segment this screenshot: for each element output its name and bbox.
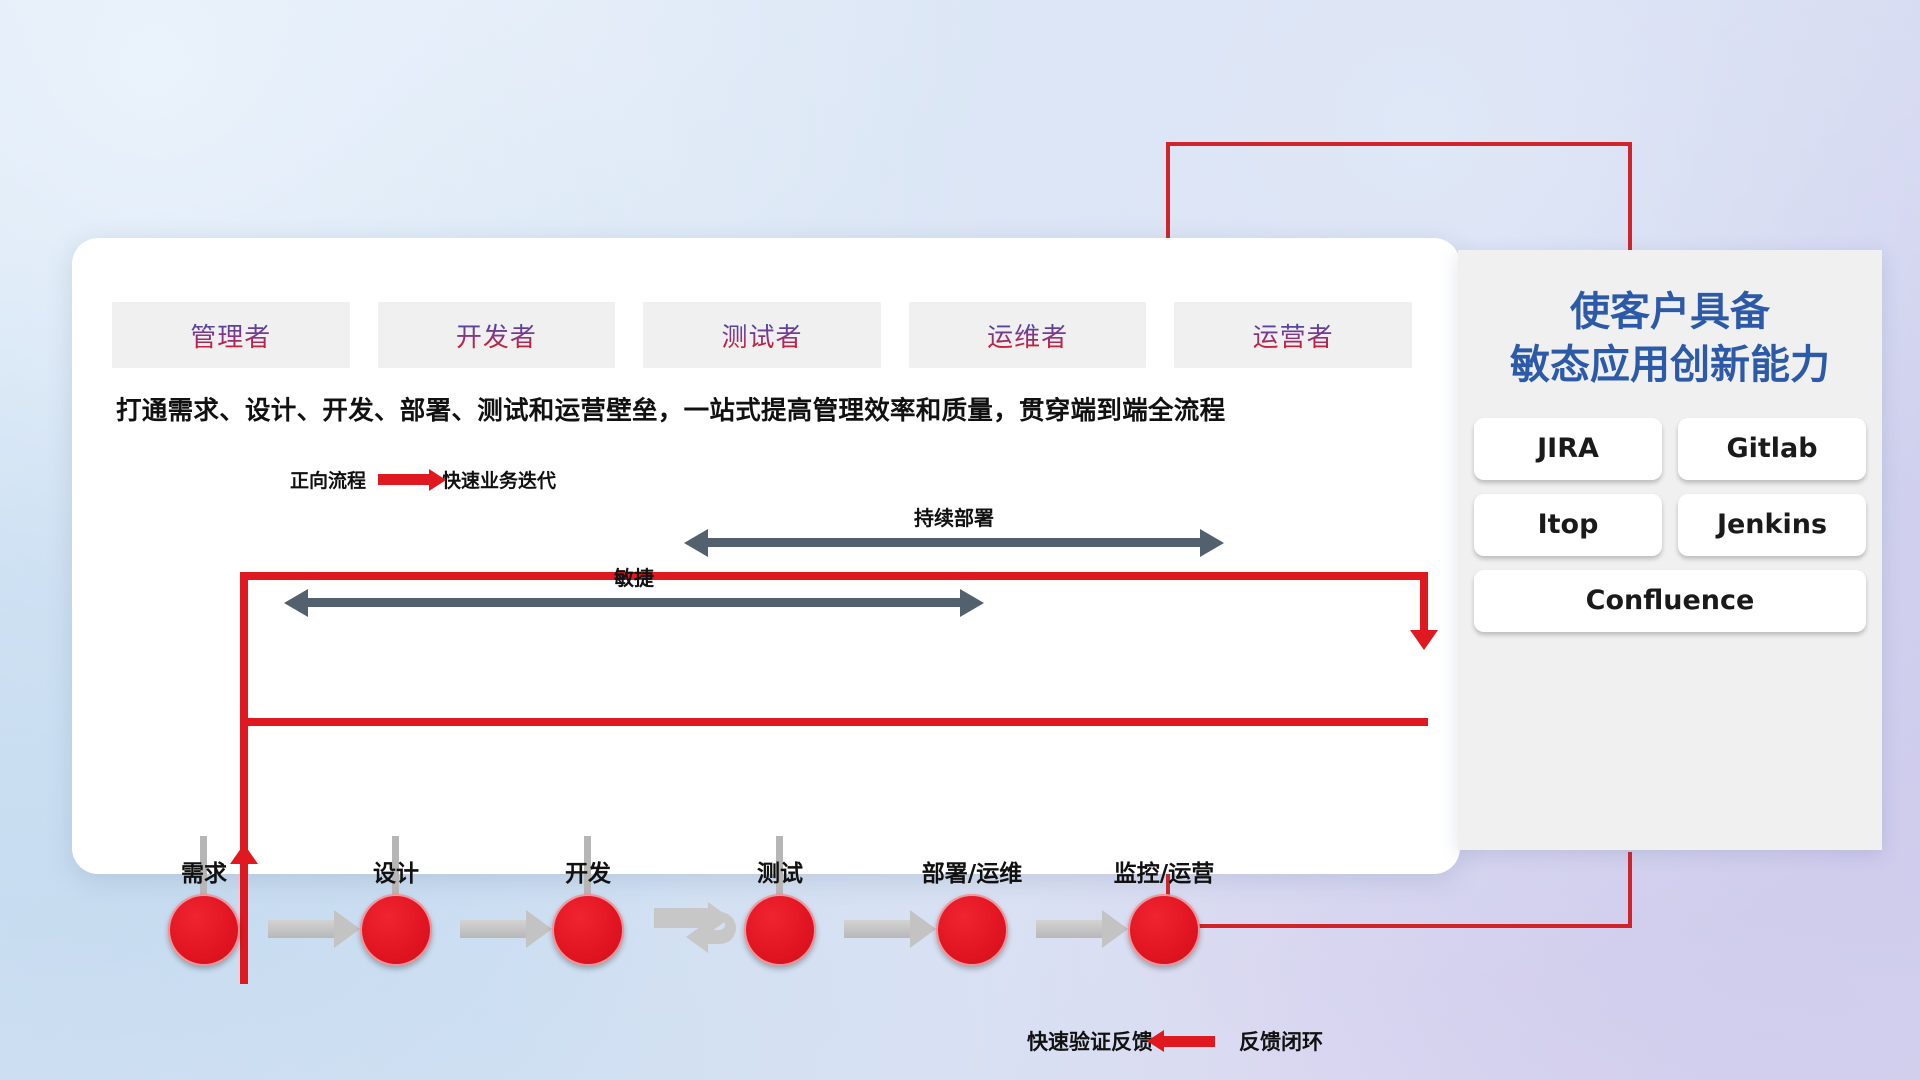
forward-flow-legend: 正向流程 快速业务迭代 xyxy=(290,466,556,493)
pipeline-node-development[interactable]: 开发 xyxy=(552,894,624,966)
panel-title-line1: 使客户具备 xyxy=(1458,286,1882,339)
tool-chip-confluence[interactable]: Confluence xyxy=(1474,570,1866,632)
tool-chip-jenkins[interactable]: Jenkins xyxy=(1678,494,1866,556)
pipeline-node-label: 监控/运营 xyxy=(1114,854,1214,888)
pipeline-arrow-3-icon xyxy=(844,920,936,938)
forward-flow-left-label: 正向流程 xyxy=(290,466,366,493)
span-caption: 持续部署 xyxy=(684,502,1224,531)
role-tab-label: 测试者 xyxy=(721,317,802,354)
value-proposition-panel: 使客户具备 敏态应用创新能力 JIRA Gitlab Itop Jenkins … xyxy=(1458,250,1882,850)
tool-chip-jira[interactable]: JIRA xyxy=(1474,418,1662,480)
role-tabs-row: 管理者 开发者 测试者 运维者 运营者 xyxy=(112,302,1412,368)
pipeline-node-label: 开发 xyxy=(565,854,611,888)
node-stem xyxy=(200,836,207,928)
pipeline-node-testing[interactable]: 测试 xyxy=(744,894,816,966)
panel-title-line2: 敏态应用创新能力 xyxy=(1458,339,1882,392)
pipeline-node-dot xyxy=(552,894,624,966)
pipeline-node-dot xyxy=(168,894,240,966)
red-loop-arrow-down-icon xyxy=(1410,630,1438,650)
pipeline-arrow-1-icon xyxy=(268,920,360,938)
feedback-loop-legend: 快速验证反馈 反馈闭环 xyxy=(1027,1026,1323,1056)
span-bar xyxy=(706,538,1202,547)
span-continuous-deployment: 持续部署 xyxy=(684,538,1224,548)
role-tab-label: 管理者 xyxy=(190,317,271,354)
pipeline-node-label: 部署/运维 xyxy=(922,854,1022,888)
role-tab-developer[interactable]: 开发者 xyxy=(378,302,616,368)
node-stem xyxy=(392,836,399,928)
tool-chip-label: Jenkins xyxy=(1717,509,1827,540)
tool-chip-label: Itop xyxy=(1538,509,1599,540)
tool-chip-label: Gitlab xyxy=(1726,433,1817,464)
arrow-head-right-icon xyxy=(960,589,984,617)
role-tab-label: 运维者 xyxy=(987,317,1068,354)
node-stem xyxy=(584,836,591,928)
pipeline-node-requirements[interactable]: 需求 xyxy=(168,894,240,966)
tool-chip-itop[interactable]: Itop xyxy=(1474,494,1662,556)
role-tab-ops[interactable]: 运维者 xyxy=(909,302,1147,368)
arrow-head-left-icon xyxy=(284,589,308,617)
pipeline-node-dot xyxy=(360,894,432,966)
arrow-head-right-icon xyxy=(1200,529,1224,557)
pipeline-node-monitor-operations[interactable]: 监控/运营 xyxy=(1128,894,1200,966)
node-stem xyxy=(776,836,783,928)
pipeline-node-dot xyxy=(936,894,1008,966)
pipeline-node-label: 测试 xyxy=(757,854,803,888)
pipeline-node-dot xyxy=(744,894,816,966)
pipeline-node-design[interactable]: 设计 xyxy=(360,894,432,966)
span-agile: 敏捷 xyxy=(284,598,984,608)
red-loop-left-segment xyxy=(240,572,248,984)
pipeline-node-dot xyxy=(1128,894,1200,966)
headline-statement: 打通需求、设计、开发、部署、测试和运营壁垒，一站式提高管理效率和质量，贯穿端到端… xyxy=(116,390,1426,427)
arrow-head-left-icon xyxy=(684,529,708,557)
pipeline-iterate-loop-icon xyxy=(650,894,758,962)
pipeline-arrow-2-icon xyxy=(460,920,552,938)
span-bar xyxy=(306,598,962,607)
feedback-right-label: 反馈闭环 xyxy=(1239,1026,1323,1056)
role-tab-label: 开发者 xyxy=(456,317,537,354)
pipeline-node-label: 需求 xyxy=(181,854,227,888)
tool-chip-gitlab[interactable]: Gitlab xyxy=(1678,418,1866,480)
red-loop-arrow-up-icon xyxy=(230,844,258,864)
pipeline-arrow-4-icon xyxy=(1036,920,1128,938)
slide-canvas: 管理者 开发者 测试者 运维者 运营者 打通需求、设计、开发、部署、测试和运营壁… xyxy=(0,0,1920,1080)
role-tab-label: 运营者 xyxy=(1253,317,1334,354)
pipeline-node-label: 设计 xyxy=(373,854,419,888)
feedback-left-label: 快速验证反馈 xyxy=(1027,1026,1153,1056)
span-caption: 敏捷 xyxy=(284,562,984,591)
role-tab-tester[interactable]: 测试者 xyxy=(643,302,881,368)
red-loop-right-segment xyxy=(1420,572,1428,634)
role-tab-operations[interactable]: 运营者 xyxy=(1174,302,1412,368)
red-arrow-left-icon xyxy=(1163,1036,1215,1047)
red-arrow-right-icon xyxy=(378,474,430,485)
main-content-card: 管理者 开发者 测试者 运维者 运营者 打通需求、设计、开发、部署、测试和运营壁… xyxy=(72,238,1460,874)
pipeline-node-deploy-ops[interactable]: 部署/运维 xyxy=(936,894,1008,966)
tool-chip-label: Confluence xyxy=(1586,585,1755,616)
panel-title: 使客户具备 敏态应用创新能力 xyxy=(1458,286,1882,392)
red-loop-bottom-segment xyxy=(240,718,1428,726)
role-tab-manager[interactable]: 管理者 xyxy=(112,302,350,368)
forward-flow-right-label: 快速业务迭代 xyxy=(442,466,556,493)
tool-chip-grid: JIRA Gitlab Itop Jenkins Confluence xyxy=(1474,418,1866,632)
tool-chip-label: JIRA xyxy=(1537,433,1599,464)
